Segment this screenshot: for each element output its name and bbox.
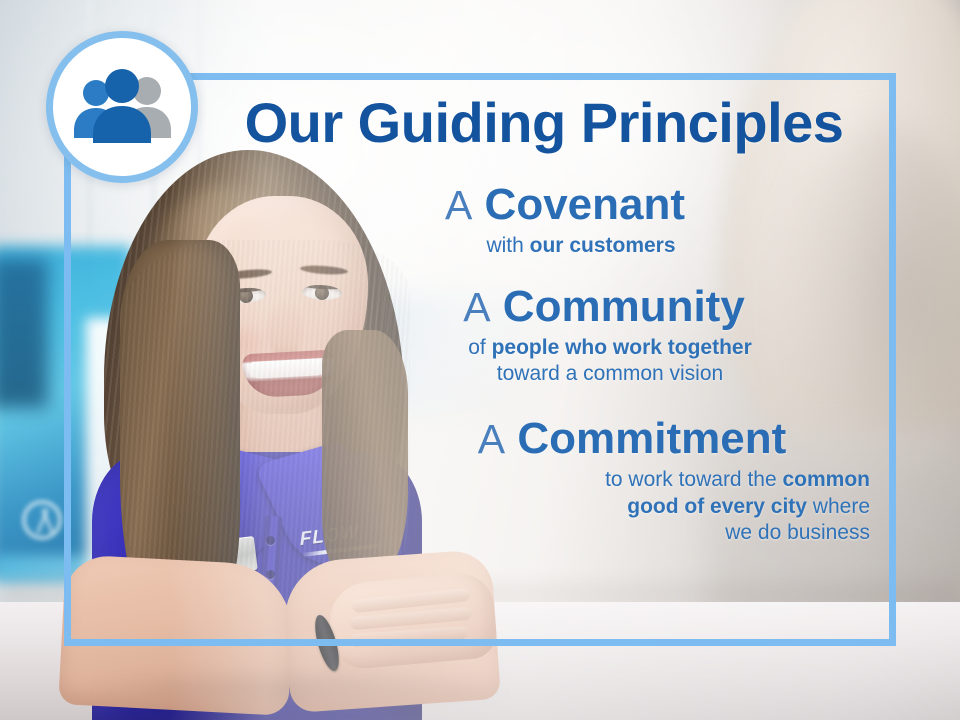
principle-article: A (478, 416, 505, 462)
principle-subtext-bold: people who work together (492, 336, 752, 359)
principle-subtext-line2: toward a common vision (497, 362, 723, 385)
principle-subtext-line3: we do business (725, 521, 870, 544)
principle-title: A Commitment (300, 414, 886, 463)
principle-subtext: to work toward the common good of every … (300, 467, 886, 546)
principle-subtext-line2-tail: where (807, 495, 870, 518)
principle-subtext-line1-bold: common (782, 468, 870, 491)
principle-title: A Covenant (300, 180, 886, 229)
principle-commitment: A Commitment to work toward the common g… (300, 414, 886, 547)
principles-list: A Covenant with our customers A Communit… (300, 180, 886, 551)
principle-subtext-line1-lead: to work toward the (605, 468, 782, 491)
principle-covenant: A Covenant with our customers (300, 180, 886, 260)
principle-keyword: Covenant (485, 180, 685, 229)
principle-keyword: Community (503, 282, 745, 331)
arm-shadow (90, 668, 510, 708)
principle-community: A Community of people who work together … (300, 282, 886, 388)
principle-article: A (463, 284, 490, 330)
principle-subtext: of people who work together toward a com… (300, 335, 886, 388)
principle-keyword: Commitment (517, 414, 786, 463)
principle-subtext-lead: of (468, 336, 491, 359)
principle-subtext-line2-bold: good of every city (627, 495, 807, 518)
principle-title: A Community (300, 282, 886, 331)
graphic-canvas: FLOW FLOW Automotive (0, 0, 960, 720)
principle-subtext-bold: our customers (530, 234, 676, 257)
group-of-people-icon (46, 31, 198, 183)
principle-subtext-lead: with (486, 234, 529, 257)
principle-article: A (445, 182, 472, 228)
page-title: Our Guiding Principles (214, 93, 874, 152)
principle-subtext: with our customers (300, 233, 886, 259)
